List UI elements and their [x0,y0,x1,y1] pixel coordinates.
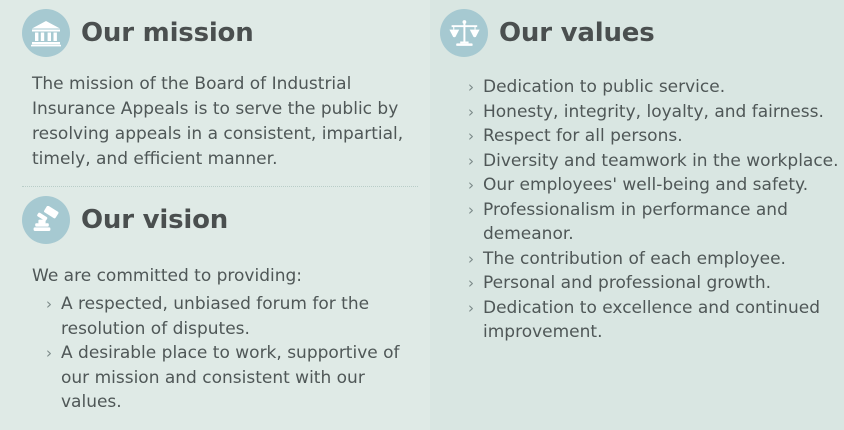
values-heading-row: Our values [440,9,840,57]
vision-list-item: ›A desirable place to work, supportive o… [46,341,406,415]
mission-heading-row: Our mission [22,9,412,57]
values-list-item-label: Professionalism in performance and demea… [483,200,788,245]
chevron-right-icon: › [468,296,474,321]
vision-heading-row: Our vision [22,196,412,244]
values-list-item-label: Respect for all persons. [483,126,683,146]
mission-section: Our mission The mission of the Board of … [0,9,430,172]
values-list-item: ›Dedication to public service. [468,75,844,100]
values-list-item: ›The contribution of each employee. [468,247,844,272]
vision-list-item-label: A desirable place to work, supportive of… [61,343,400,412]
left-column: Our mission The mission of the Board of … [0,0,430,430]
vision-title: Our vision [81,207,228,233]
values-list-item-label: Personal and professional growth. [483,273,771,293]
chevron-right-icon: › [468,271,474,296]
section-divider [22,186,418,187]
vision-list-item-label: A respected, unbiased forum for the reso… [61,294,369,339]
values-list-item-label: The contribution of each employee. [483,249,786,269]
values-list-item: ›Honesty, integrity, loyalty, and fairne… [468,100,844,125]
mission-paragraph: The mission of the Board of Industrial I… [32,72,404,172]
values-list-item: ›Our employees' well-being and safety. [468,173,844,198]
vision-list-item: ›A respected, unbiased forum for the res… [46,292,406,341]
values-list-item: ›Diversity and teamwork in the workplace… [468,149,844,174]
values-section: Our values ›Dedication to public service… [430,9,844,345]
chevron-right-icon: › [468,198,474,223]
values-list-item: ›Professionalism in performance and deme… [468,198,844,247]
chevron-right-icon: › [468,100,474,125]
values-list-item: ›Personal and professional growth. [468,271,844,296]
vision-section: Our vision We are committed to providing… [0,196,430,415]
vision-list: ›A respected, unbiased forum for the res… [46,292,406,415]
classical-building-icon [22,9,70,57]
right-column: Our values ›Dedication to public service… [430,0,844,430]
chevron-right-icon: › [468,75,474,100]
mission-vision-values-board: Our mission The mission of the Board of … [0,0,844,430]
values-list-item-label: Our employees' well-being and safety. [483,175,808,195]
values-list-item-label: Dedication to excellence and continued i… [483,298,820,343]
mission-title: Our mission [81,20,254,46]
chevron-right-icon: › [468,149,474,174]
chevron-right-icon: › [46,341,52,366]
chevron-right-icon: › [468,124,474,149]
values-list: ›Dedication to public service.›Honesty, … [468,75,844,345]
chevron-right-icon: › [468,173,474,198]
values-list-item-label: Honesty, integrity, loyalty, and fairnes… [483,102,824,122]
vision-lead: We are committed to providing: [32,264,412,289]
values-list-item-label: Diversity and teamwork in the workplace. [483,151,839,171]
values-title: Our values [499,20,655,46]
values-list-item: ›Dedication to excellence and continued … [468,296,844,345]
values-list-item: ›Respect for all persons. [468,124,844,149]
balance-scale-icon [440,9,488,57]
chevron-right-icon: › [46,292,52,317]
values-list-item-label: Dedication to public service. [483,77,725,97]
gavel-icon [22,196,70,244]
chevron-right-icon: › [468,247,474,272]
